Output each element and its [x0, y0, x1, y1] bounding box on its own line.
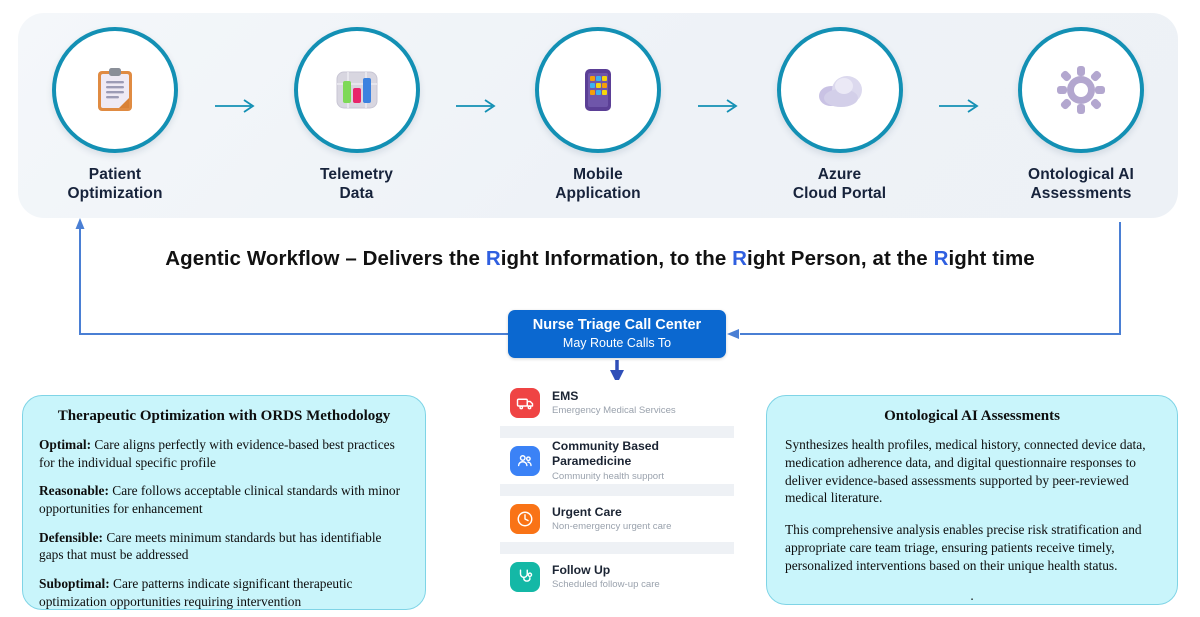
- therapeutic-optimization-panel: Therapeutic Optimization with ORDS Metho…: [22, 395, 426, 610]
- assessment-paragraph-2: This comprehensive analysis enables prec…: [785, 521, 1159, 574]
- workflow-arrow-2: [451, 97, 503, 115]
- node-label: Telemetry Data: [320, 166, 393, 203]
- route-text: Follow Up Scheduled follow-up care: [552, 563, 660, 592]
- ords-term: Defensible:: [39, 530, 103, 545]
- workflow-node-azure-cloud-portal[interactable]: Azure Cloud Portal: [765, 13, 915, 203]
- ords-term: Suboptimal:: [39, 576, 110, 591]
- route-destination-list: EMS Emergency Medical Services Community…: [500, 380, 734, 600]
- stethoscope-icon: [510, 562, 540, 592]
- arrow-right-icon: [937, 98, 983, 114]
- arrow-right-icon: [696, 98, 742, 114]
- mobile-app-icon: [572, 64, 624, 116]
- node-circle: [294, 27, 420, 153]
- ords-description: Care aligns perfectly with evidence-base…: [39, 437, 395, 470]
- banner-part-3: ight Person, at the: [747, 247, 934, 270]
- route-text: EMS Emergency Medical Services: [552, 389, 676, 418]
- banner-part-4: ight time: [948, 247, 1034, 270]
- route-separator: [500, 542, 734, 554]
- workflow-arrow-1: [210, 97, 262, 115]
- route-text: Urgent Care Non-emergency urgent care: [552, 505, 671, 534]
- workflow-node-row: Patient Optimization: [18, 13, 1178, 218]
- route-card-urgent-care[interactable]: Urgent Care Non-emergency urgent care: [500, 496, 734, 542]
- nurse-triage-call-center-box[interactable]: Nurse Triage Call Center May Route Calls…: [508, 310, 726, 358]
- route-title: Urgent Care: [552, 505, 671, 520]
- route-separator: [500, 426, 734, 438]
- cloud-icon: [811, 66, 869, 114]
- people-icon: [510, 446, 540, 476]
- ontological-ai-assessments-panel: Ontological AI Assessments Synthesizes h…: [766, 395, 1178, 605]
- triage-subtitle: May Route Calls To: [563, 336, 671, 350]
- arrow-right-icon: [454, 98, 500, 114]
- route-subtitle: Scheduled follow-up care: [552, 579, 660, 591]
- route-title: EMS: [552, 389, 676, 404]
- route-subtitle: Non-emergency urgent care: [552, 521, 671, 533]
- workflow-node-patient-optimization[interactable]: Patient Optimization: [40, 13, 190, 203]
- banner-highlight-3: R: [934, 247, 949, 270]
- arrow-right-icon: [213, 98, 259, 114]
- route-card-community-based-paramedicine[interactable]: Community Based Paramedicine Community h…: [500, 438, 734, 484]
- route-title: Follow Up: [552, 563, 660, 578]
- ords-term: Reasonable:: [39, 483, 109, 498]
- route-separator: [500, 484, 734, 496]
- gear-icon: [1056, 65, 1106, 115]
- node-circle: [535, 27, 661, 153]
- ords-item-reasonable: Reasonable: Care follows acceptable clin…: [39, 482, 409, 517]
- ords-item-defensible: Defensible: Care meets minimum standards…: [39, 529, 409, 564]
- route-subtitle: Community health support: [552, 471, 734, 483]
- triage-title: Nurse Triage Call Center: [533, 317, 701, 334]
- workflow-node-mobile-application[interactable]: Mobile Application: [523, 13, 673, 203]
- ambulance-icon: [510, 388, 540, 418]
- route-card-follow-up[interactable]: Follow Up Scheduled follow-up care: [500, 554, 734, 600]
- workflow-banner-text: Agentic Workflow – Delivers the Right In…: [0, 247, 1200, 271]
- route-text: Community Based Paramedicine Community h…: [552, 439, 734, 482]
- route-title: Community Based Paramedicine: [552, 439, 734, 468]
- node-circle: [52, 27, 178, 153]
- banner-part-1: Agentic Workflow – Delivers the: [165, 247, 486, 270]
- node-label: Mobile Application: [555, 166, 641, 203]
- trailing-dot: .: [785, 589, 1159, 602]
- banner-part-2: ight Information, to the: [501, 247, 732, 270]
- workflow-arrow-4: [934, 97, 986, 115]
- banner-highlight-1: R: [486, 247, 501, 270]
- node-label: Ontological AI Assessments: [1028, 166, 1134, 203]
- route-card-ems[interactable]: EMS Emergency Medical Services: [500, 380, 734, 426]
- workflow-node-ontological-ai-assessments[interactable]: Ontological AI Assessments: [1006, 13, 1156, 203]
- clock-icon: [510, 504, 540, 534]
- ords-term: Optimal:: [39, 437, 91, 452]
- node-label: Patient Optimization: [67, 166, 162, 203]
- node-circle: [1018, 27, 1144, 153]
- banner-highlight-2: R: [732, 247, 747, 270]
- diagram-canvas: Patient Optimization: [0, 0, 1200, 617]
- workflow-node-telemetry-data[interactable]: Telemetry Data: [282, 13, 432, 203]
- bar-chart-icon: [331, 64, 383, 116]
- panel-title: Ontological AI Assessments: [785, 408, 1159, 425]
- route-subtitle: Emergency Medical Services: [552, 405, 676, 417]
- panel-title: Therapeutic Optimization with ORDS Metho…: [39, 408, 409, 425]
- node-circle: [777, 27, 903, 153]
- clipboard-icon: [87, 62, 143, 118]
- ords-item-suboptimal: Suboptimal: Care patterns indicate signi…: [39, 575, 409, 610]
- node-label: Azure Cloud Portal: [793, 166, 886, 203]
- assessment-paragraph-1: Synthesizes health profiles, medical his…: [785, 436, 1159, 507]
- workflow-arrow-3: [693, 97, 745, 115]
- ords-item-optimal: Optimal: Care aligns perfectly with evid…: [39, 436, 409, 471]
